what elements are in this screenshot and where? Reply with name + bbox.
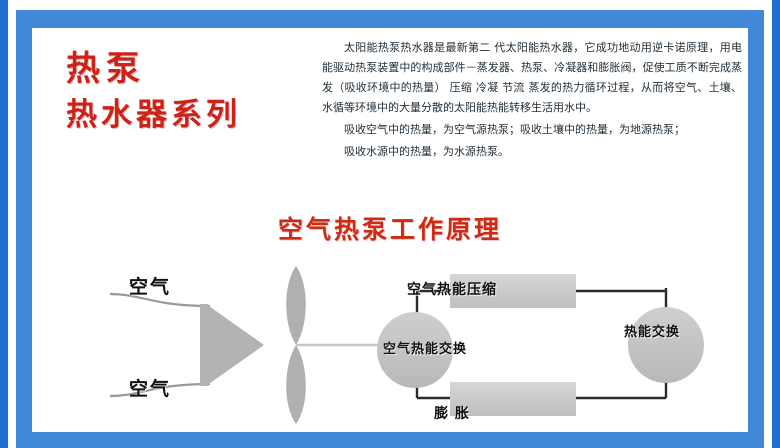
node-expand-label: 膨 胀 <box>434 403 470 423</box>
node-compress-label: 空气热能压缩 <box>407 279 497 299</box>
node-exchange-right-label: 热能交换 <box>624 323 646 342</box>
headline-line-2: 热水器系列 <box>66 92 316 138</box>
intro-paragraph-1: 太阳能热泵热水器是最新第二 代太阳能热水器，它成功地动用逆卡诺原理，用电能驱动热… <box>322 38 742 118</box>
intro-paragraph-3: 吸收水源中的热量，为水源热泵。 <box>322 142 742 162</box>
headline-line-1: 热泵 <box>66 46 316 92</box>
air-inlet-bottom-label: 空气 <box>129 374 171 401</box>
intro-paragraph-2: 吸收空气中的热量，为空气源热泵；吸收土壤中的热量，为地源热泵； <box>322 120 742 140</box>
poster-content: 热泵 热水器系列 太阳能热泵热水器是最新第二 代太阳能热水器，它成功地动用逆卡诺… <box>32 28 748 432</box>
node-exchange-right-circle <box>628 307 704 383</box>
left-edge-strip <box>0 0 8 448</box>
intro-paragraphs: 太阳能热泵热水器是最新第二 代太阳能热水器，它成功地动用逆卡诺原理，用电能驱动热… <box>322 38 742 164</box>
air-inlet-top-label: 空气 <box>129 272 171 299</box>
right-arrow-icon <box>206 304 264 386</box>
heat-pump-diagram: 空气 空气 空气热能压缩 膨 胀 空气热能交换 热能交换 <box>32 246 748 432</box>
headline-block: 热泵 热水器系列 <box>66 46 316 138</box>
node-exchange-left-label: 空气热能交换 <box>383 341 447 358</box>
right-edge-strip <box>772 0 780 448</box>
section-title: 空气热泵工作原理 <box>32 210 748 246</box>
poster-root: 热泵 热水器系列 太阳能热泵热水器是最新第二 代太阳能热水器，它成功地动用逆卡诺… <box>0 0 780 448</box>
